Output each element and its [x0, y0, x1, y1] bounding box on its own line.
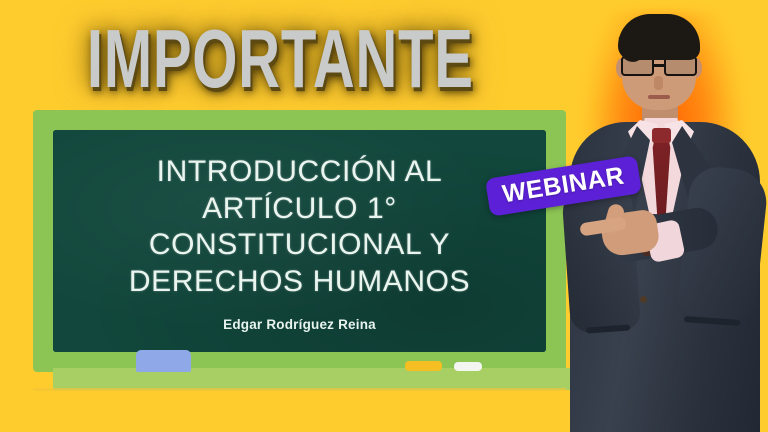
chalk-ledge	[53, 368, 599, 390]
presenter-photo	[556, 0, 768, 432]
presenter-figure	[556, 0, 768, 432]
hair	[618, 14, 700, 60]
thumbnail-canvas: IMPORTANTE INTRODUCCIÓN AL ARTÍCULO 1° C…	[0, 0, 768, 432]
pointing-hand-icon	[580, 204, 658, 256]
headline-container: IMPORTANTE	[0, 14, 560, 104]
jacket-button	[640, 296, 647, 303]
chalkboard-frame: INTRODUCCIÓN AL ARTÍCULO 1° CONSTITUCION…	[33, 110, 566, 372]
chalkboard-surface: INTRODUCCIÓN AL ARTÍCULO 1° CONSTITUCION…	[53, 130, 546, 352]
board-line-3: CONSTITUCIONAL Y	[149, 227, 450, 264]
chalk-ledge-shadow	[33, 388, 566, 391]
board-line-2: ARTÍCULO 1°	[202, 191, 397, 228]
necktie-knot	[652, 128, 671, 143]
chalkboard-content: INTRODUCCIÓN AL ARTÍCULO 1° CONSTITUCION…	[53, 130, 546, 352]
board-line-1: INTRODUCCIÓN AL	[157, 154, 443, 191]
board-line-4: DERECHOS HUMANOS	[129, 264, 470, 301]
chalk-white-icon	[454, 362, 482, 371]
presenter-name: Edgar Rodríguez Reina	[223, 317, 376, 332]
eyeglass-bridge	[654, 64, 664, 67]
blackboard-eraser-icon	[136, 350, 191, 372]
nose	[654, 76, 663, 90]
mouth	[648, 95, 670, 99]
chalk-yellow-icon	[405, 361, 442, 371]
page-title: IMPORTANTE	[87, 21, 474, 97]
